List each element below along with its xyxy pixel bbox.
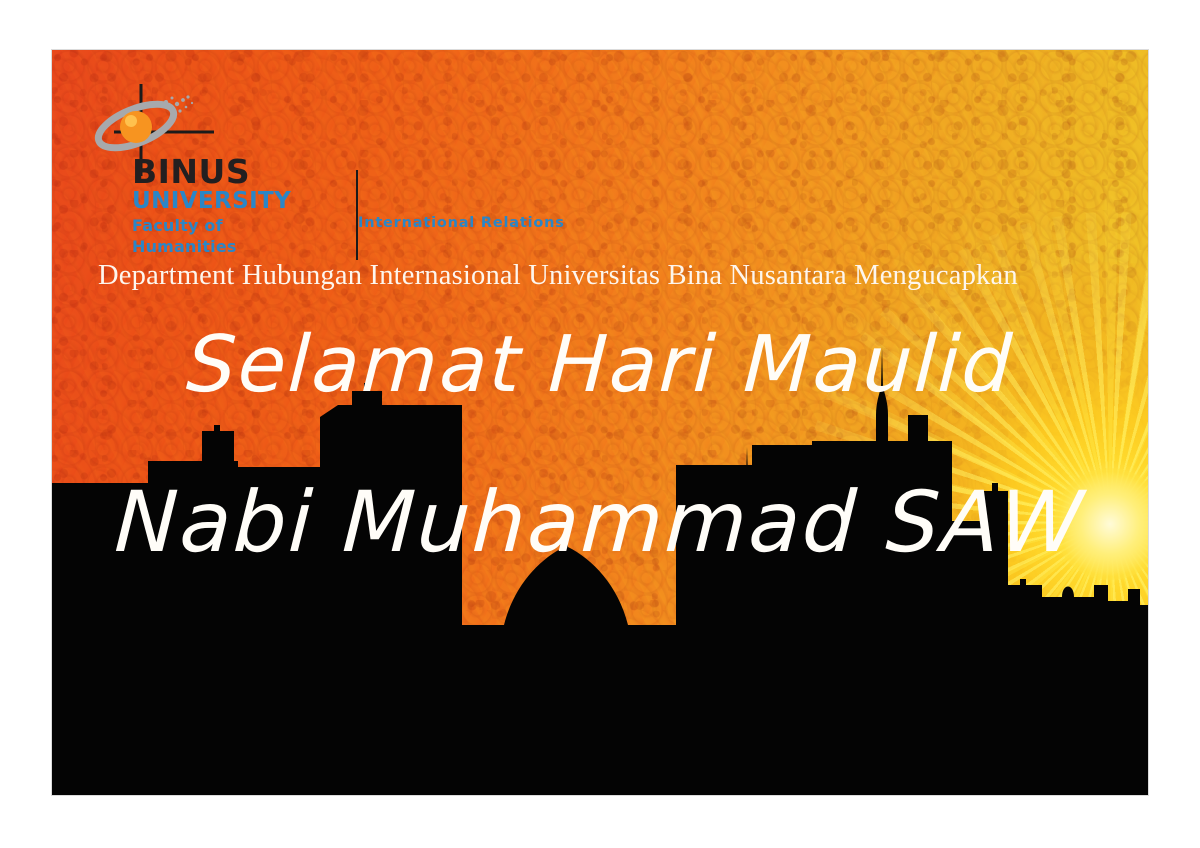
page-canvas: BINUS UNIVERSITY Faculty of Humanities I… bbox=[0, 0, 1200, 848]
logo-faculty-line1: Faculty of bbox=[132, 216, 362, 236]
greeting-headline-line1: Selamat Hari Maulid bbox=[52, 326, 1148, 404]
greeting-subtitle: Department Hubungan Internasional Univer… bbox=[98, 260, 1118, 292]
logo-faculty-line2: Humanities bbox=[132, 237, 362, 257]
greeting-headline-line2: Nabi Muhammad SAW bbox=[52, 480, 1148, 564]
binus-logo: BINUS UNIVERSITY Faculty of Humanities bbox=[74, 80, 544, 258]
binus-logo-wordmark: BINUS UNIVERSITY Faculty of Humanities bbox=[132, 155, 362, 257]
logo-unit-label: International Relations bbox=[358, 215, 565, 231]
logo-binus-text: BINUS bbox=[132, 155, 362, 188]
logo-university-text: UNIVERSITY bbox=[132, 189, 362, 214]
greeting-card: BINUS UNIVERSITY Faculty of Humanities I… bbox=[52, 50, 1148, 795]
